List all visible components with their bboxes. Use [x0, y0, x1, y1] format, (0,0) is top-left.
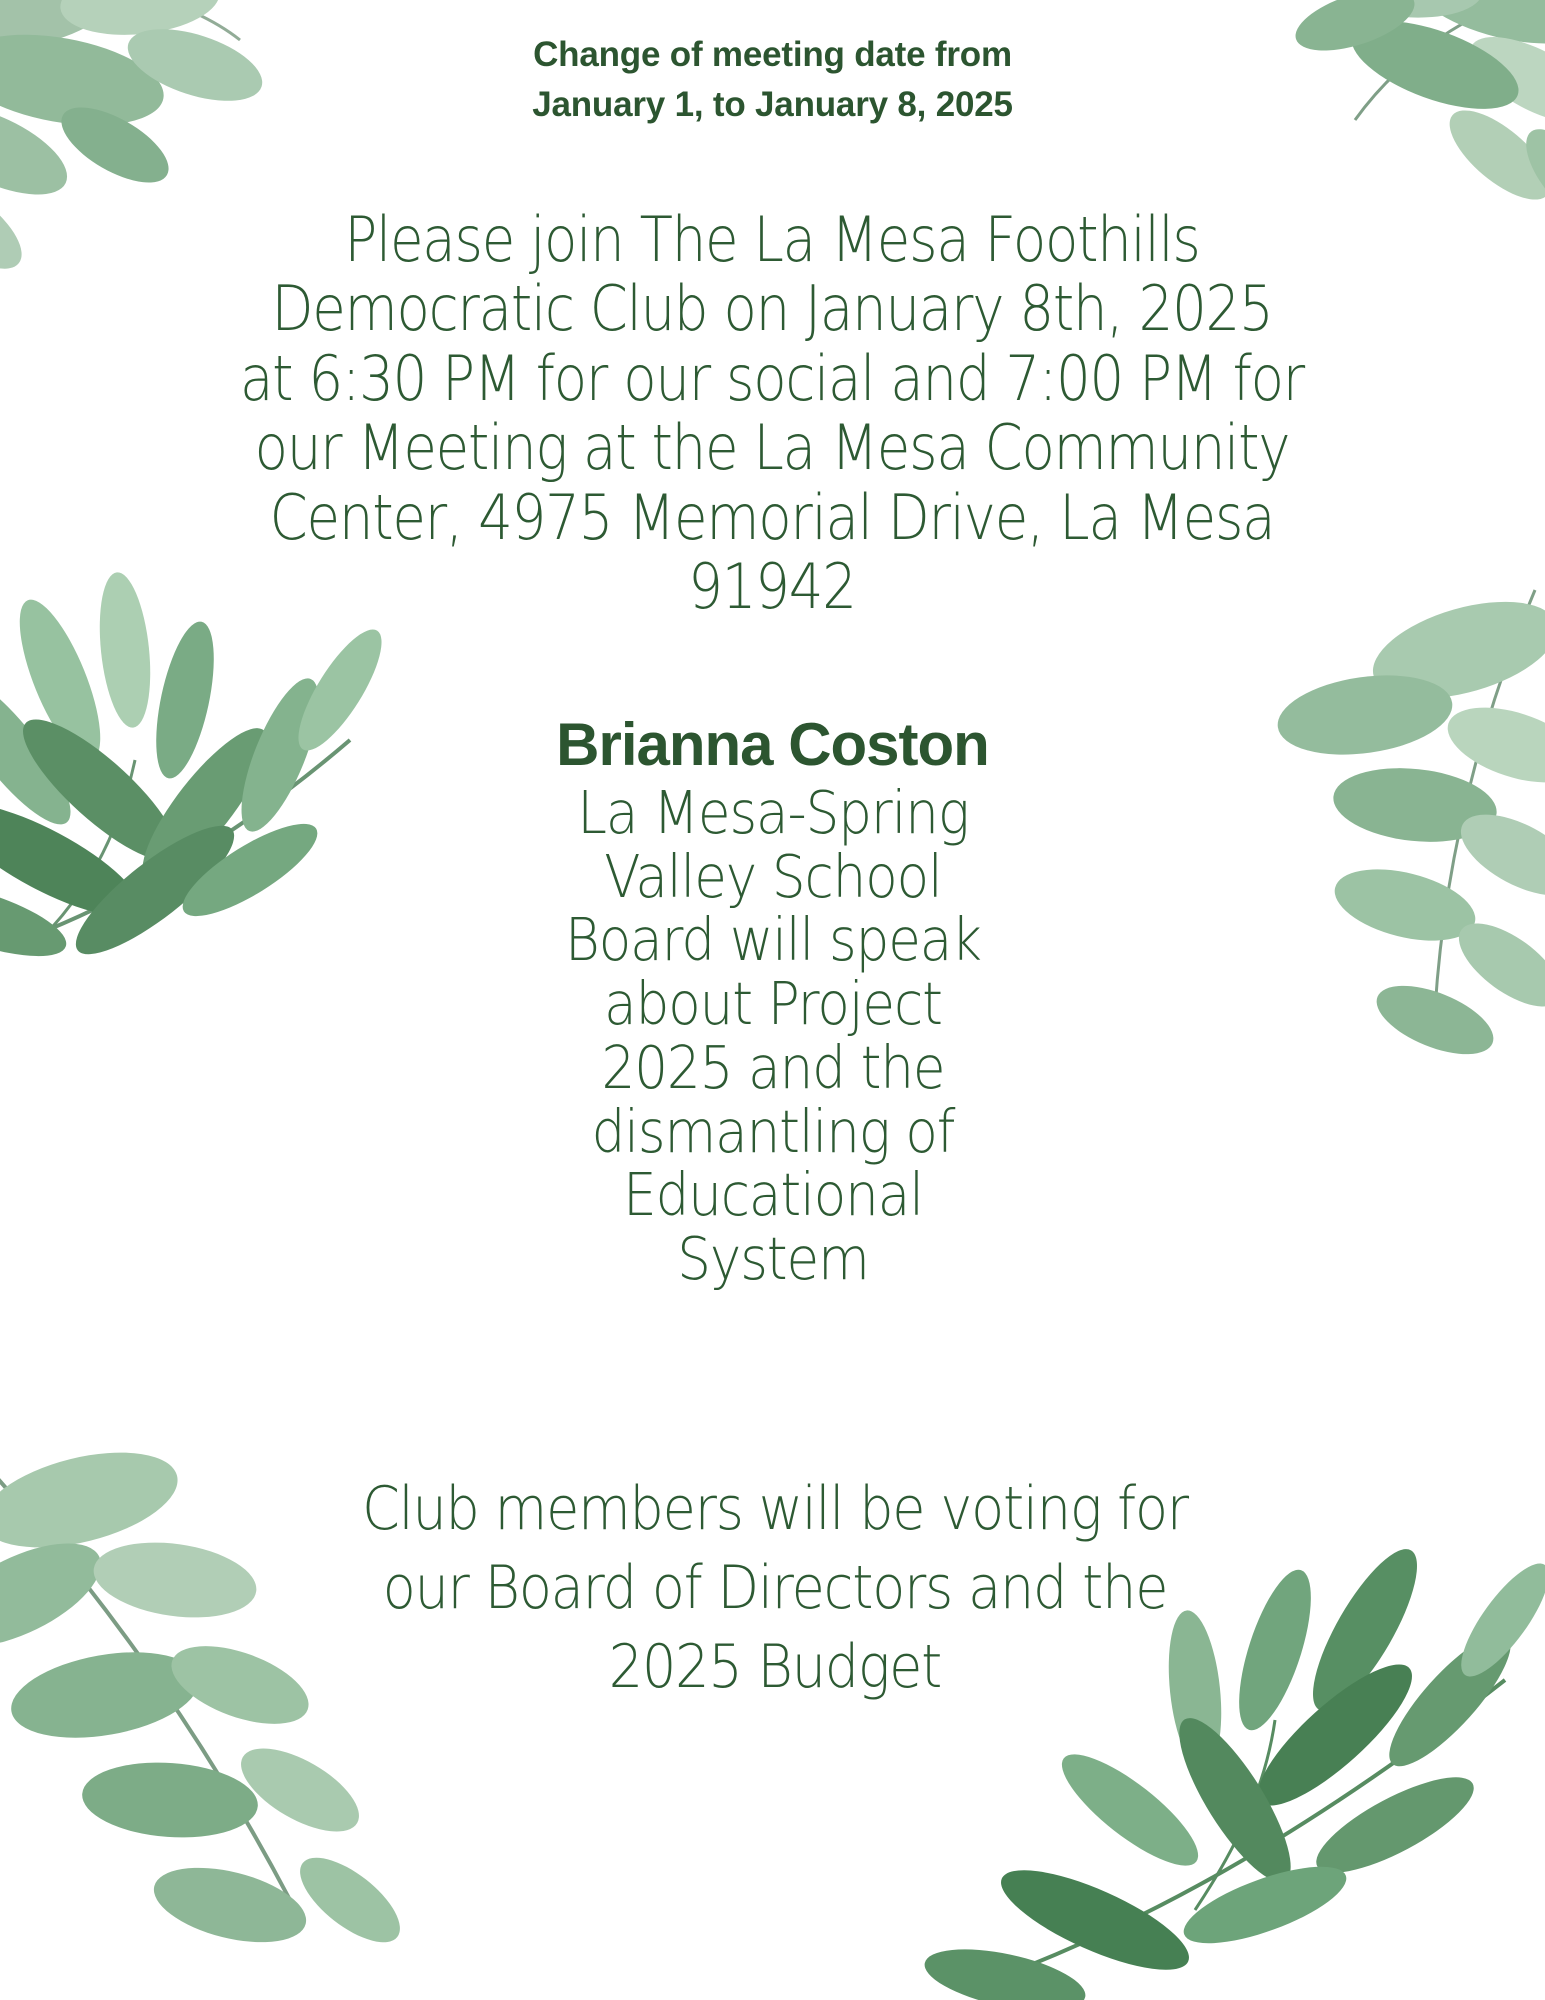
body-line-2: Democratic Club on January 8th, 2025	[191, 274, 1353, 343]
speaker-bio-line-1: La Mesa-Spring	[503, 781, 1043, 845]
body-line-4: our Meeting at the La Mesa Community	[191, 413, 1353, 482]
speaker-bio-line-7: Educational	[503, 1163, 1043, 1227]
speaker-bio-line-5: 2025 and the	[503, 1036, 1043, 1100]
closing-voting-paragraph: Club members will be voting for our Boar…	[303, 1470, 1248, 1708]
event-details-paragraph: Please join The La Mesa Foothills Democr…	[191, 205, 1353, 622]
headline-line-2: January 1, to January 8, 2025	[0, 80, 1545, 130]
headline-line-1: Change of meeting date from	[0, 30, 1545, 80]
body-line-6: 91942	[191, 552, 1353, 621]
headline-date-change: Change of meeting date from January 1, t…	[0, 30, 1545, 129]
closing-line-3: 2025 Budget	[303, 1628, 1248, 1707]
speaker-bio-line-4: about Project	[503, 972, 1043, 1036]
body-line-1: Please join The La Mesa Foothills	[191, 205, 1353, 274]
speaker-bio-line-3: Board will speak	[503, 908, 1043, 972]
closing-line-1: Club members will be voting for	[303, 1470, 1248, 1549]
body-line-5: Center, 4975 Memorial Drive, La Mesa	[191, 483, 1353, 552]
speaker-bio-line-2: Valley School	[503, 845, 1043, 909]
speaker-bio-line-8: System	[503, 1227, 1043, 1291]
flyer-text-layer: Change of meeting date from January 1, t…	[0, 0, 1545, 2000]
speaker-block: Brianna Coston La Mesa-Spring Valley Sch…	[0, 715, 1545, 1291]
speaker-name: Brianna Coston	[0, 715, 1545, 775]
closing-line-2: our Board of Directors and the	[303, 1549, 1248, 1628]
event-flyer: Change of meeting date from January 1, t…	[0, 0, 1545, 2000]
speaker-bio: La Mesa-Spring Valley School Board will …	[503, 781, 1043, 1291]
speaker-bio-line-6: dismantling of	[503, 1100, 1043, 1164]
body-line-3: at 6:30 PM for our social and 7:00 PM fo…	[191, 344, 1353, 413]
